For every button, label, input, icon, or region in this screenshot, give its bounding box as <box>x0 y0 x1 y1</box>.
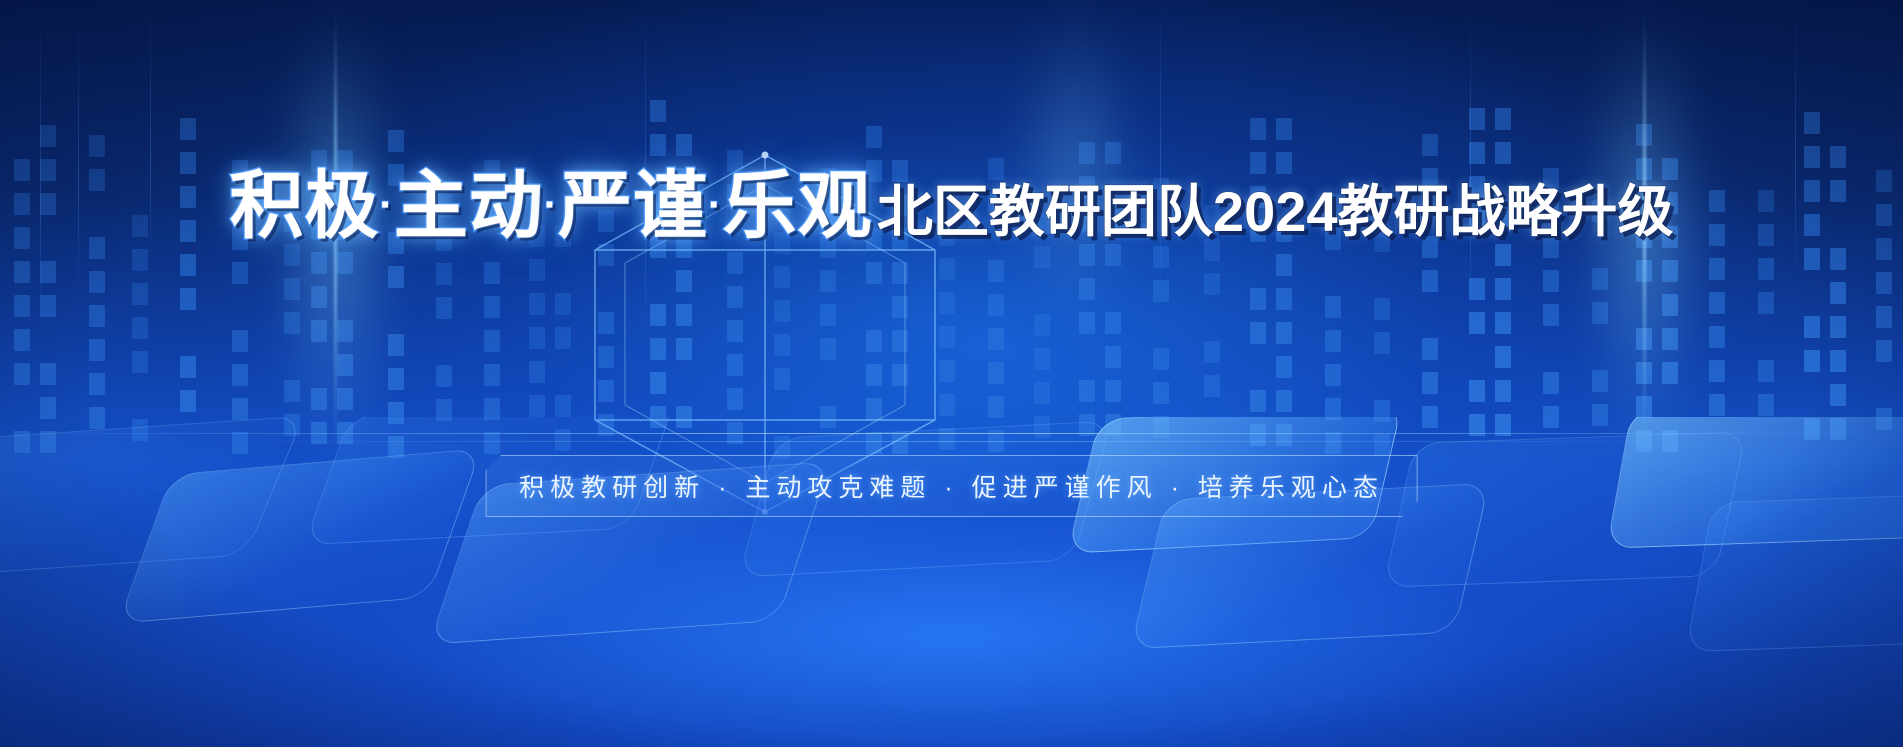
slogan-separator: · <box>1171 474 1185 502</box>
headline-word-4: 乐观 <box>722 164 872 247</box>
title-block: 积极·主动·严谨·乐观 北区教研团队2024教研战略升级 <box>0 168 1903 243</box>
headline: 积极·主动·严谨·乐观 <box>229 169 872 243</box>
headline-separator: · <box>544 183 558 227</box>
slogan-item-1: 积极教研创新 <box>519 474 705 502</box>
banner-canvas: 积极·主动·严谨·乐观 北区教研团队2024教研战略升级 积极教研创新 · 主动… <box>0 0 1903 747</box>
headline-separator: · <box>708 183 722 227</box>
headline-separator: · <box>379 183 393 227</box>
subheadline: 北区教研团队2024教研战略升级 <box>877 184 1674 240</box>
slogan-item-3: 促进严谨作风 <box>972 474 1158 502</box>
slogan-container: 积极教研创新 · 主动攻克难题 · 促进严谨作风 · 培养乐观心态 <box>485 455 1418 517</box>
light-beam-center <box>1040 0 1110 330</box>
slogan-text: 积极教研创新 · 主动攻克难题 · 促进严谨作风 · 培养乐观心态 <box>519 468 1384 504</box>
headline-word-3: 严谨 <box>558 164 708 247</box>
floor-tile <box>1686 492 1903 652</box>
slogan-separator: · <box>718 474 732 502</box>
slogan-separator: · <box>944 474 958 502</box>
headline-word-1: 积极 <box>229 164 379 247</box>
slogan-item-2: 主动攻克难题 <box>745 474 931 502</box>
slogan-item-4: 培养乐观心态 <box>1198 474 1384 502</box>
headline-word-2: 主动 <box>394 164 544 247</box>
